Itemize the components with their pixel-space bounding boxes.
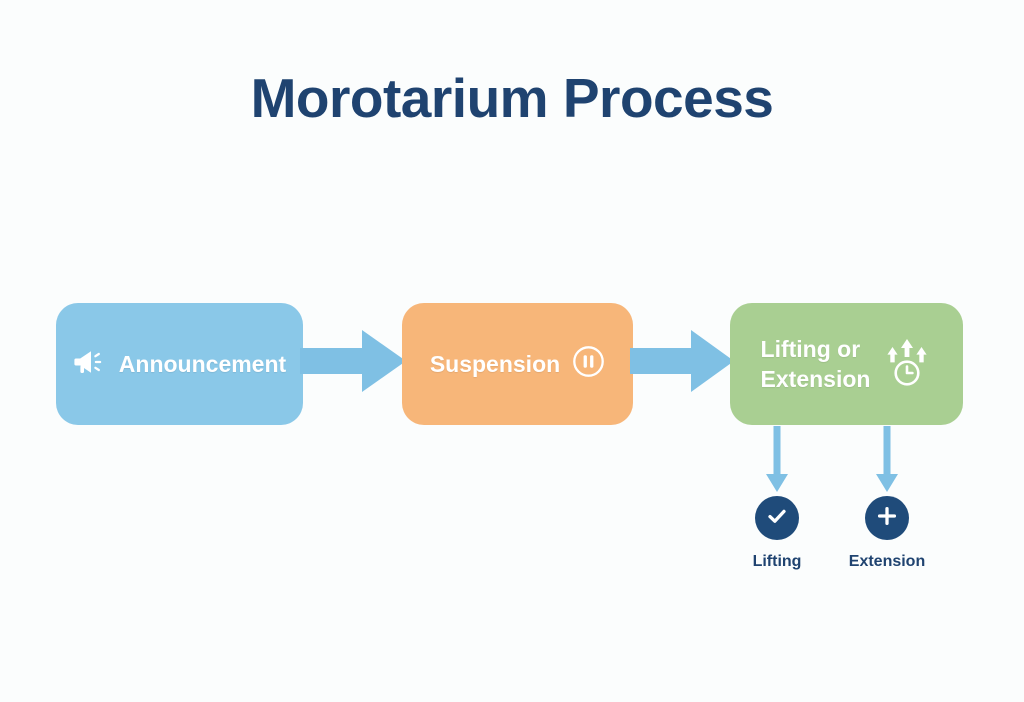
plus-circle-badge [865, 496, 909, 540]
page-title: Morotarium Process [0, 66, 1024, 130]
outcome-node-lifting[interactable]: Lifting [722, 496, 832, 571]
outcome-node-extension[interactable]: Extension [832, 496, 942, 571]
stage-label-suspension: Suspension [430, 349, 560, 379]
outcome-label-extension: Extension [849, 553, 925, 571]
connector-arrow-to-extension [872, 426, 902, 492]
check-icon [765, 504, 789, 533]
connector-arrow-to-lifting [762, 426, 792, 492]
plus-icon [875, 504, 899, 533]
stage-box-announcement[interactable]: Announcement [56, 303, 303, 425]
stage-content-announcement: Announcement [73, 347, 286, 382]
check-circle-badge [755, 496, 799, 540]
connector-arrow-announcement-to-suspension [300, 330, 406, 392]
connector-arrow-suspension-to-lifting-extension [630, 330, 734, 392]
stage-label-lifting-extension: Lifting or Extension [761, 334, 871, 394]
stage-box-suspension[interactable]: Suspension [402, 303, 633, 425]
outcome-label-lifting: Lifting [753, 553, 802, 571]
megaphone-icon [73, 347, 107, 382]
stage-content-lifting-extension: Lifting or Extension [761, 334, 933, 394]
clock-up-arrows-icon [882, 337, 932, 392]
stage-content-suspension: Suspension [430, 345, 605, 383]
pause-circle-icon [572, 345, 605, 383]
diagram-canvas: Morotarium Process Announcement Suspensi… [0, 0, 1024, 702]
stage-box-lifting-extension[interactable]: Lifting or Extension [730, 303, 963, 425]
stage-label-announcement: Announcement [119, 349, 286, 379]
